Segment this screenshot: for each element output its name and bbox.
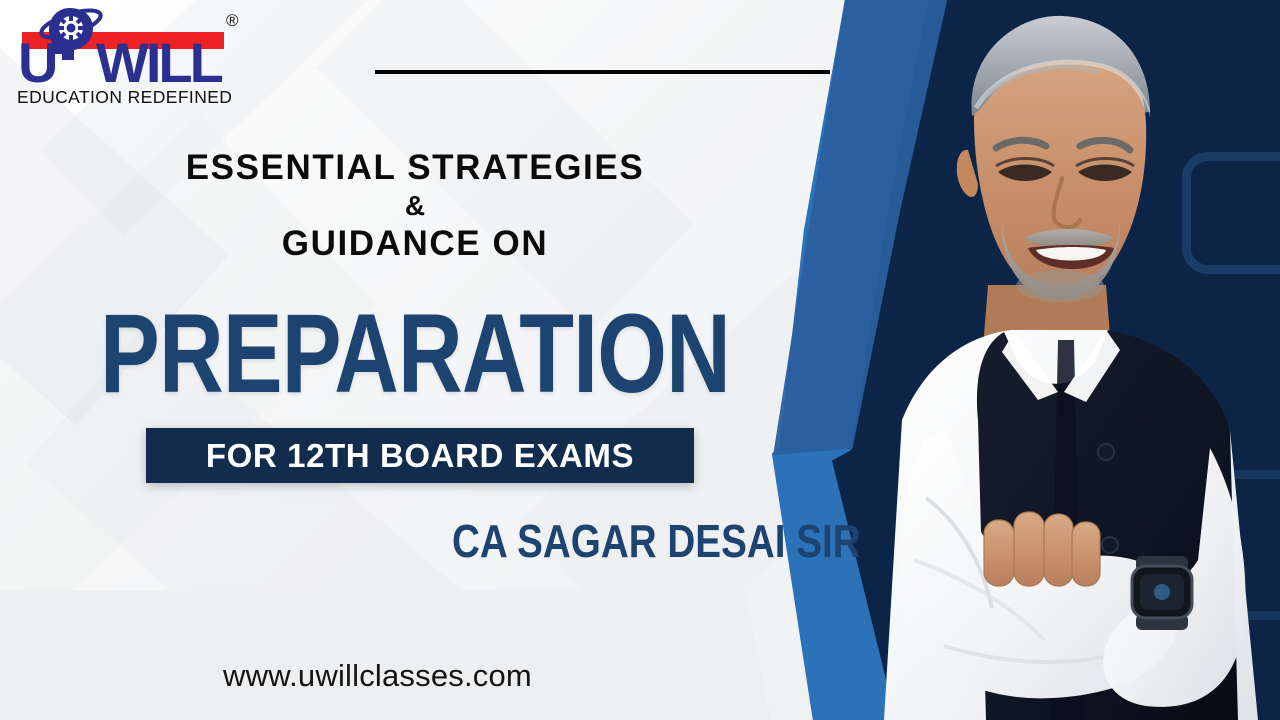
header-divider-rule: [375, 70, 830, 74]
headline-ampersand: &: [0, 186, 830, 227]
headline-block: ESSENTIAL STRATEGIES & GUIDANCE ON: [0, 150, 830, 263]
headline-line-2: GUIDANCE ON: [0, 226, 830, 263]
hero-subtitle-text: FOR 12TH BOARD EXAMS: [206, 437, 634, 475]
thumbnail-canvas: U WILL ® EDUCATION REDEFINED ESSENTIAL S…: [0, 0, 1280, 720]
website-url[interactable]: www.uwillclasses.com: [0, 658, 755, 694]
presenter-name: CA SAGAR DESAI SIR: [452, 518, 788, 564]
uwill-logo[interactable]: U WILL ® EDUCATION REDEFINED: [8, 4, 258, 108]
svg-text:®: ®: [226, 11, 239, 30]
svg-text:U: U: [18, 31, 56, 94]
hero-title: PREPARATION: [83, 298, 747, 410]
hero-subtitle-bar: FOR 12TH BOARD EXAMS: [146, 428, 694, 483]
headline-line-1: ESSENTIAL STRATEGIES: [0, 150, 830, 186]
svg-text:EDUCATION REDEFINED: EDUCATION REDEFINED: [17, 87, 232, 107]
speaker-portrait: [806, 0, 1280, 720]
svg-text:WILL: WILL: [96, 31, 223, 94]
